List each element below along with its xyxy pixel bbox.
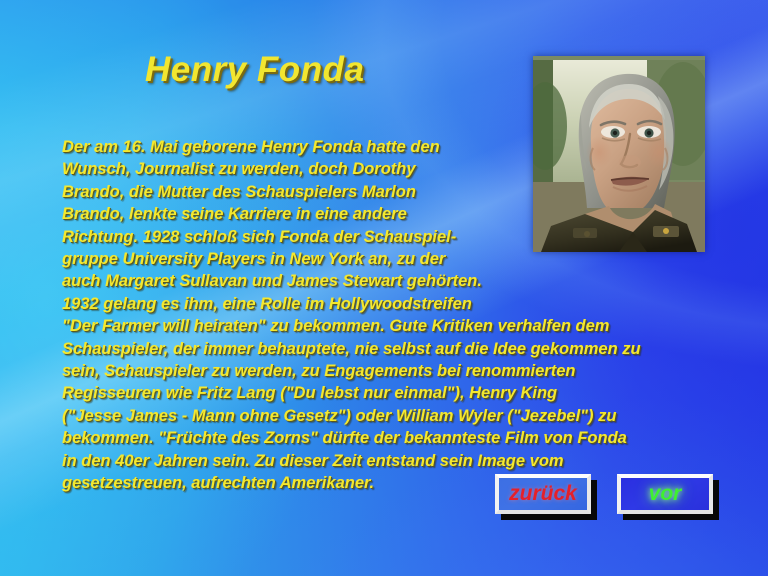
- back-button[interactable]: zurück: [495, 474, 591, 514]
- slide-screen: Henry Fonda: [0, 0, 768, 576]
- biography-text: Der am 16. Mai geborene Henry Fonda hatt…: [62, 136, 722, 495]
- page-title: Henry Fonda: [145, 50, 364, 90]
- back-button-label: zurück: [509, 482, 577, 506]
- forward-button[interactable]: vor: [617, 474, 713, 514]
- forward-button-label: vor: [649, 482, 682, 506]
